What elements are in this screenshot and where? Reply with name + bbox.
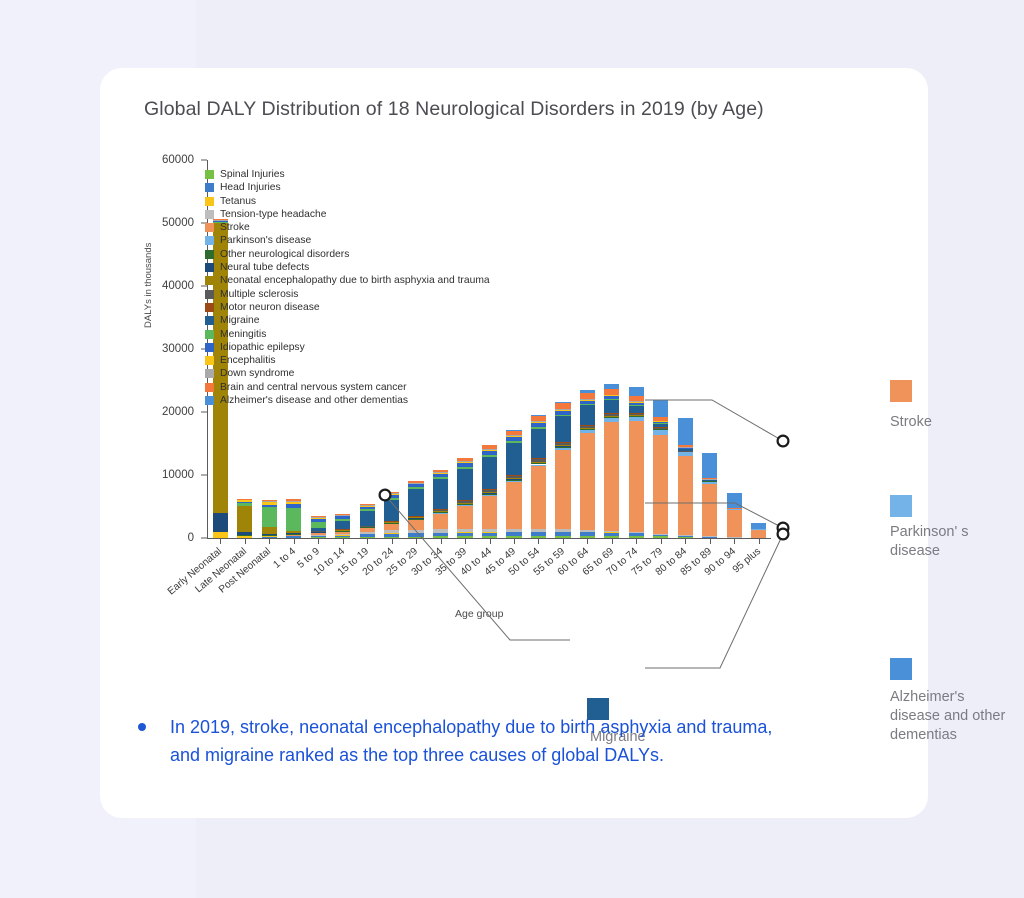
bar-segment [360,532,375,534]
x-axis-tick-mark [318,538,319,544]
bar-segment [408,489,423,515]
bar-segment [580,428,595,429]
bar-segment [311,532,326,533]
legend-item-label: Tension-type headache [220,209,326,220]
bar-segment [531,465,546,466]
legend-item[interactable]: Other neurological disorders [205,248,490,261]
bar-segment [604,531,619,532]
legend-swatch-icon [205,276,214,285]
x-axis-tick-mark [685,538,686,544]
bar-segment [506,532,521,536]
bar-segment [653,430,668,435]
bar-segment [555,443,570,445]
bar-segment [678,418,693,444]
bar-segment [262,535,277,536]
x-axis-tick-mark [710,538,711,544]
bar-segment [311,522,326,528]
legend-item[interactable]: Neonatal encephalopathy due to birth asp… [205,274,490,287]
bar-segment [653,534,668,536]
bar-segment [408,516,423,517]
bar-segment [286,504,301,508]
bar-segment [433,472,448,473]
bar-segment [262,500,277,501]
bar-segment [580,429,595,430]
bar-segment [360,527,375,528]
x-axis-tick-mark [612,538,613,544]
bar-segment [286,508,301,531]
legend-item-label: Migraine [220,315,260,326]
bar-segment [360,528,375,532]
bar-segment [531,459,546,461]
bar-segment [286,501,301,502]
legend-item[interactable]: Motor neuron disease [205,301,490,314]
bar-segment [335,535,350,537]
bar-column[interactable] [678,418,693,538]
bar-segment [555,448,570,450]
bar-segment [580,393,595,399]
callout-swatch-icon [890,495,912,517]
bar-segment [506,436,521,437]
bar-segment [727,509,742,510]
bar-segment [604,413,619,414]
bar-segment [604,416,619,417]
bar-segment [604,396,619,399]
bar-segment [384,494,399,495]
bar-segment [262,534,277,535]
bar-segment [653,427,668,428]
legend-item[interactable]: Alzheimer's disease and other dementias [205,394,490,407]
y-axis-tick-mark [201,160,207,161]
legend-swatch-icon [205,316,214,325]
bar-segment [506,481,521,482]
legend-item[interactable]: Head Injuries [205,181,490,194]
legend-swatch-icon [205,250,214,259]
bar-segment [457,462,472,463]
bar-segment [580,390,595,392]
bar-segment [580,430,595,433]
bar-segment [653,435,668,534]
bar-segment [678,449,693,451]
bar-segment [433,470,448,473]
bar-segment [335,515,350,516]
bar-segment [335,531,350,533]
legend-swatch-icon [205,290,214,299]
bar-segment [384,498,399,500]
bar-segment [335,519,350,522]
y-axis-tick-label: 10000 [155,469,201,481]
bar-segment [629,405,644,413]
y-axis-tick-mark [201,412,207,413]
legend-item[interactable]: Parkinson's disease [205,234,490,247]
bar-segment [408,518,423,519]
bar-segment [629,387,644,396]
x-axis-tick-mark [269,538,270,544]
bar-segment [702,478,717,479]
bar-segment [506,482,521,529]
bar-segment [384,530,399,533]
bar-segment [629,532,644,533]
bar-segment [408,530,423,533]
bar-segment [506,430,521,431]
bar-segment [408,481,423,483]
legend-item[interactable]: Down syndrome [205,367,490,380]
bar-segment [457,467,472,469]
bar-segment [604,414,619,415]
bar-segment [702,481,717,484]
bar-segment [555,410,570,411]
bar-segment [604,399,619,400]
bar-segment [629,402,644,403]
bar-column[interactable] [727,493,742,538]
bar-segment [629,421,644,532]
bar-segment [286,535,301,536]
legend-item-label: Spinal Injuries [220,169,285,180]
bar-segment [555,450,570,529]
bar-segment [555,409,570,410]
bar-segment [678,456,693,535]
legend-item-label: Meningitis [220,329,266,340]
legend-item-label: Multiple sclerosis [220,289,298,300]
bar-segment [384,495,399,498]
bar-segment [678,535,693,537]
bar-segment [482,493,497,495]
bar-segment [629,405,644,406]
bar-segment [262,501,277,504]
bar-column[interactable] [555,402,570,538]
callout-label: Alzheimer's disease and other dementias [890,688,1010,745]
bar-segment [629,396,644,401]
bar-segment [433,514,448,530]
legend-item[interactable]: Brain and central nervous system cancer [205,381,490,394]
legend-item[interactable]: Idiopathic epilepsy [205,341,490,354]
bar-column[interactable] [237,500,252,538]
legend-swatch-icon [205,369,214,378]
bar-segment [531,415,546,416]
bar-segment [311,533,326,535]
bar-segment [531,529,546,532]
bar-column[interactable] [408,481,423,538]
bar-column[interactable] [702,453,717,538]
legend-swatch-icon [205,223,214,232]
bar-segment [457,504,472,505]
bar-segment [360,509,375,511]
x-axis-tick-mark [563,538,564,544]
legend-item-label: Alzheimer's disease and other dementias [220,395,408,406]
bar-segment [604,532,619,536]
bar-segment [213,513,228,532]
bar-segment [604,389,619,395]
bar-segment [727,510,742,537]
legend-item-label: Other neurological disorders [220,249,349,260]
bar-segment [360,504,375,505]
bar-segment [482,529,497,532]
y-axis-tick-label: 40000 [155,280,201,292]
bar-segment [482,495,497,528]
bar-segment [629,416,644,417]
callout-label: Parkinson' s disease [890,523,1010,561]
bar-segment [360,534,375,537]
bar-segment [604,395,619,396]
bar-segment [286,499,301,500]
bar-segment [262,507,277,527]
bar-segment [457,503,472,504]
bar-segment [678,445,693,448]
bar-segment [604,400,619,413]
bar-segment [457,529,472,532]
bar-segment [604,418,619,422]
bar-segment [433,474,448,478]
bar-segment [580,433,595,529]
bar-column[interactable] [604,384,619,538]
bar-segment [262,527,277,534]
bar-segment [629,413,644,414]
bar-column[interactable] [531,415,546,538]
legend-item[interactable]: Tension-type headache [205,208,490,221]
bar-segment [678,452,693,456]
y-axis-tick-label: 20000 [155,406,201,418]
bar-segment [482,490,497,492]
y-axis-title: DALYs in thousands [143,243,154,328]
legend-item[interactable]: Encephalitis [205,354,490,367]
bar-segment [433,509,448,511]
legend-item-label: Brain and central nervous system cancer [220,382,407,393]
bar-segment [433,473,448,474]
bar-segment [604,422,619,531]
bar-segment [531,458,546,459]
y-axis-tick-mark [201,475,207,476]
legend-swatch-icon [205,183,214,192]
bar-segment [506,437,521,441]
bar-segment [580,530,595,532]
bar-segment [408,483,423,484]
bar-segment [653,428,668,429]
bar-segment [360,506,375,509]
bar-segment [482,449,497,450]
legend-item[interactable]: Neural tube defects [205,261,490,274]
bar-segment [237,506,252,532]
page-title: Global DALY Distribution of 18 Neurologi… [144,98,764,121]
bar-segment [433,533,448,537]
bar-column[interactable] [335,514,350,538]
bar-segment [751,529,766,538]
bar-segment [629,402,644,404]
legend-swatch-icon [205,396,214,405]
bar-column[interactable] [653,400,668,538]
bar-segment [408,533,423,537]
bar-segment [384,500,399,521]
legend-swatch-icon [205,356,214,365]
bar-segment [237,500,252,502]
bar-segment [629,417,644,422]
bar-segment [531,427,546,429]
x-axis-tick-mark [734,538,735,544]
bar-segment [506,441,521,443]
x-axis-tick-mark [514,538,515,544]
bar-segment [506,475,521,476]
bar-segment [482,445,497,449]
x-axis-title: Age group [455,608,503,620]
caption-text: In 2019, stroke, neonatal encephalopathy… [170,713,780,769]
legend-swatch-icon [205,170,214,179]
bar-column[interactable] [629,387,644,538]
y-axis-tick-label: 50000 [155,217,201,229]
x-axis-tick-mark [294,538,295,544]
bar-segment [457,461,472,462]
bar-segment [506,476,521,478]
bar-segment [384,521,399,522]
bar-segment [506,529,521,532]
x-axis-tick-mark [220,538,221,544]
bar-segment [384,492,399,494]
x-axis-tick-label: 1 to 4 [271,546,298,571]
bar-segment [360,511,375,525]
bar-segment [653,429,668,430]
bar-segment [482,492,497,493]
x-axis-tick-mark [661,538,662,544]
bar-segment [482,532,497,536]
legend-item-label: Neural tube defects [220,262,309,273]
page-root: Global DALY Distribution of 18 Neurologi… [0,0,1024,898]
bar-segment [482,457,497,490]
bar-segment [457,463,472,467]
bar-segment [555,442,570,443]
legend-item[interactable]: Multiple sclerosis [205,288,490,301]
legend-item-label: Tetanus [220,196,256,207]
bar-segment [506,431,521,436]
x-axis-tick-mark [587,538,588,544]
bar-segment [653,417,668,421]
bar-segment [433,511,448,512]
bar-segment [408,487,423,489]
bar-segment [433,479,448,509]
legend-item-label: Head Injuries [220,182,281,193]
bar-segment [384,522,399,523]
legend-item-label: Neonatal encephalopathy due to birth asp… [220,275,490,286]
legend-item[interactable]: Migraine [205,314,490,327]
bar-column[interactable] [751,523,766,538]
y-axis-tick-label: 60000 [155,154,201,166]
bar-segment [653,422,668,423]
x-axis-tick-mark [416,538,417,544]
bar-column[interactable] [384,492,399,538]
bar-segment [653,400,668,417]
bar-segment [237,499,252,500]
bar-column[interactable] [311,516,326,538]
bar-column[interactable] [262,500,277,538]
bar-segment [702,484,717,536]
bar-column[interactable] [580,390,595,538]
x-axis-tick-mark [245,538,246,544]
bar-segment [262,505,277,508]
bar-segment [580,399,595,400]
bar-segment [580,400,595,401]
bar-segment [335,516,350,519]
bar-segment [311,516,326,517]
callout-label: Stroke [890,413,1010,432]
legend-swatch-icon [205,197,214,206]
legend-item-label: Idiopathic epilepsy [220,342,305,353]
y-axis-tick-label: 0 [155,532,201,544]
legend-swatch-icon [205,383,214,392]
bar-segment [580,404,595,405]
bar-segment [531,421,546,422]
bar-segment [237,503,252,506]
bar-segment [531,429,546,459]
bar-segment [580,532,595,536]
bar-segment [457,458,472,461]
bar-segment [335,534,350,535]
bar-segment [531,462,546,463]
bar-column[interactable] [286,499,301,538]
bar-column[interactable] [506,431,521,538]
bar-column[interactable] [433,470,448,538]
bar-segment [482,451,497,455]
bar-segment [629,533,644,536]
bar-segment [482,489,497,490]
bar-segment [433,529,448,532]
callout-swatch-icon [890,658,912,680]
bar-segment [531,463,546,465]
bar-segment [678,448,693,449]
bar-segment [555,403,570,409]
bar-segment [262,536,277,537]
y-axis-tick-mark [201,538,207,539]
legend-item[interactable]: Stroke [205,221,490,234]
bar-segment [555,446,570,448]
bar-segment [702,453,717,478]
legend-item[interactable]: Spinal Injuries [205,168,490,181]
bullet-icon [138,723,146,731]
x-axis-tick-mark [636,538,637,544]
bar-segment [482,455,497,457]
x-axis-tick-mark [367,538,368,544]
x-axis-tick-mark [343,538,344,544]
legend-swatch-icon [205,330,214,339]
bar-segment [555,416,570,441]
bar-segment [531,423,546,427]
bar-segment [433,512,448,513]
legend-swatch-icon [205,210,214,219]
bar-segment [384,523,399,524]
bar-segment [555,411,570,415]
legend-item-label: Stroke [220,222,250,233]
bar-segment [751,523,766,529]
bar-column[interactable] [360,504,375,538]
chart-card: Global DALY Distribution of 18 Neurologi… [100,68,928,818]
bar-segment [311,519,326,522]
bar-segment [457,469,472,501]
bar-column[interactable] [457,458,472,538]
bar-segment [335,514,350,515]
bar-segment [653,424,668,428]
legend-item[interactable]: Tetanus [205,195,490,208]
legend-item[interactable]: Meningitis [205,328,490,341]
bar-segment [555,529,570,532]
bar-segment [457,506,472,529]
y-axis-tick-label: 30000 [155,343,201,355]
bar-column[interactable] [482,445,497,538]
bar-segment [457,532,472,536]
bar-segment [286,531,301,533]
bar-segment [384,533,399,537]
bar-segment [555,445,570,446]
bar-segment [604,384,619,389]
x-axis-tick-mark [465,538,466,544]
x-axis-tick-mark [392,538,393,544]
callout-swatch-icon [890,380,912,402]
bar-segment [580,425,595,426]
bar-segment [408,520,423,530]
